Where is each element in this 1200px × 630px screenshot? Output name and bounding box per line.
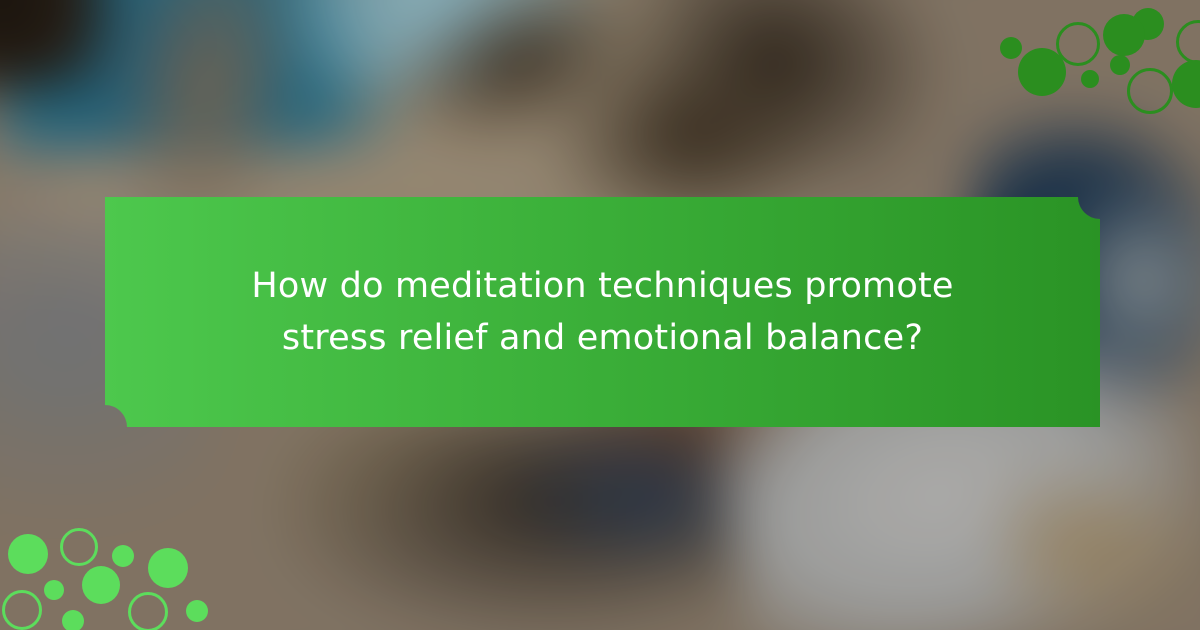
- decorative-circle: [1172, 60, 1200, 108]
- decorative-circle: [112, 545, 134, 567]
- decorative-circle: [1110, 55, 1130, 75]
- decorative-circle: [1127, 68, 1173, 114]
- decorative-circle: [1018, 48, 1066, 96]
- headline-banner: How do meditation techniques promote str…: [105, 197, 1100, 427]
- decorative-circle: [148, 548, 188, 588]
- decorative-circle: [8, 534, 48, 574]
- dot-cluster-bottom-left: [0, 518, 230, 630]
- decorative-circle: [1103, 14, 1145, 56]
- share-card: How do meditation techniques promote str…: [0, 0, 1200, 630]
- decorative-circle: [2, 590, 42, 630]
- headline-line-2: stress relief and emotional balance?: [282, 312, 923, 364]
- decorative-circle: [44, 580, 64, 600]
- decorative-circle: [1000, 37, 1022, 59]
- decorative-circle: [128, 592, 168, 630]
- decorative-circle: [186, 600, 208, 622]
- headline-text-block: How do meditation techniques promote str…: [105, 197, 1100, 427]
- dot-cluster-top-right: [980, 0, 1200, 110]
- decorative-circle: [1176, 20, 1200, 64]
- decorative-circle: [1081, 70, 1099, 88]
- decorative-circle: [62, 610, 84, 630]
- decorative-circle: [60, 528, 98, 566]
- headline-line-1: How do meditation techniques promote: [251, 260, 953, 312]
- decorative-circle: [82, 566, 120, 604]
